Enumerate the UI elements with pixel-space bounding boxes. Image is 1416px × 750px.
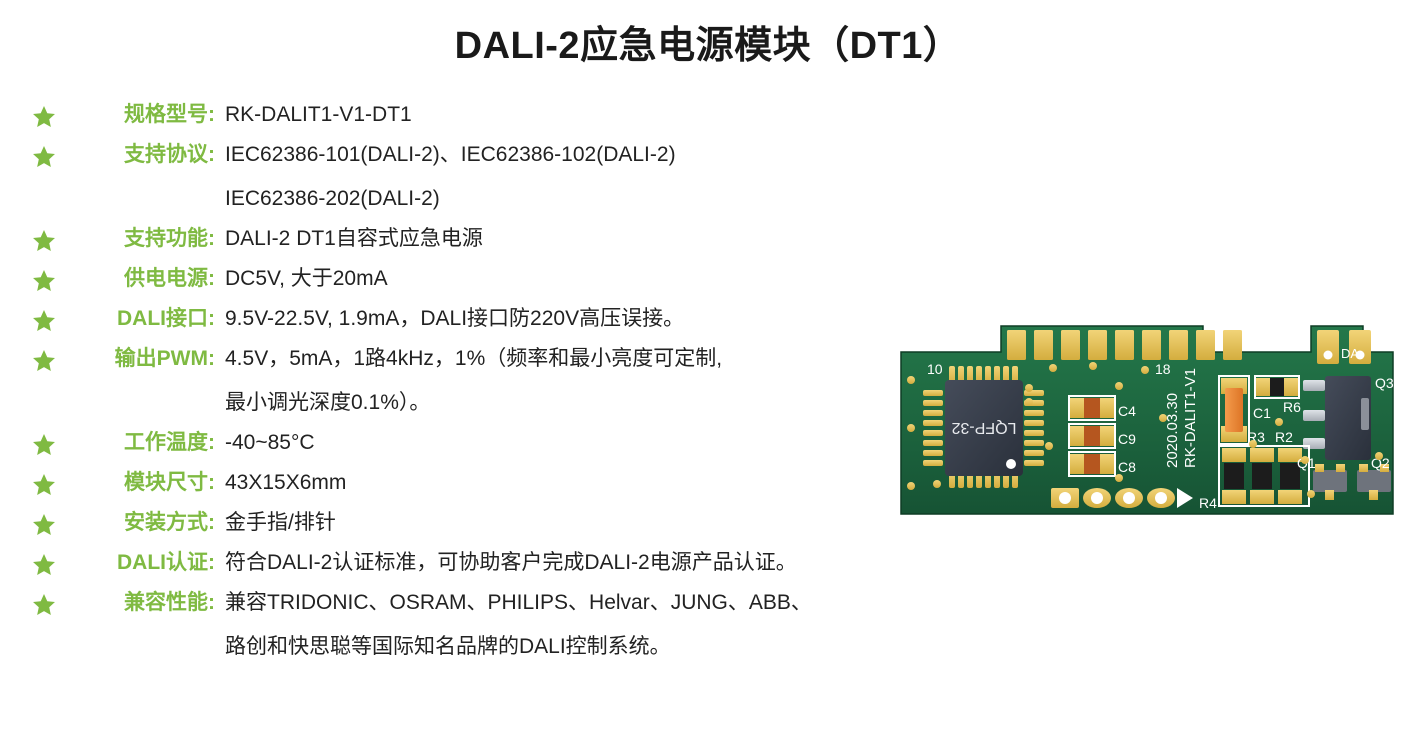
spec-value: RK-DALIT1-V1-DT1 — [225, 100, 412, 130]
spec-row: 安装方式: 金手指/排针 — [0, 508, 900, 538]
silk-label-r2: R2 — [1275, 429, 1293, 445]
silk-label-r4: R4 — [1199, 495, 1217, 511]
spec-value: 金手指/排针 — [225, 508, 336, 538]
star-icon — [30, 140, 58, 167]
spec-value: 符合DALI-2认证标准，可协助客户完成DALI-2电源产品认证。 — [225, 548, 797, 578]
silk-label-da: DA — [1341, 346, 1359, 361]
spec-label: 模块尺寸: — [58, 468, 215, 498]
page-title: DALI-2应急电源模块（DT1） — [0, 14, 1416, 69]
spec-label: 支持协议: — [58, 140, 215, 170]
silk-label-c8: C8 — [1118, 459, 1136, 475]
spec-row: DALI接口: 9.5V-22.5V, 1.9mA，DALI接口防220V高压误… — [0, 304, 900, 334]
silk-label-board-date: 2020.03.30 — [1164, 393, 1181, 468]
spec-value-line2: 路创和快思聪等国际知名品牌的DALI控制系统。 — [225, 632, 812, 662]
spec-label: 工作温度: — [58, 428, 215, 458]
spec-row: 支持功能: DALI-2 DT1自容式应急电源 — [0, 224, 900, 254]
spec-label: DALI认证: — [58, 548, 215, 578]
star-icon — [30, 548, 58, 575]
star-icon — [30, 224, 58, 251]
star-icon — [30, 264, 58, 291]
spec-row: 模块尺寸: 43X15X6mm — [0, 468, 900, 498]
spec-label: DALI接口: — [58, 304, 215, 334]
spec-value: 兼容TRIDONIC、OSRAM、PHILIPS、Helvar、JUNG、ABB… — [225, 588, 812, 662]
spec-value-line2: IEC62386-202(DALI-2) — [225, 184, 676, 214]
star-icon — [30, 304, 58, 331]
star-icon — [30, 100, 58, 127]
pcb-svg: DA 10 18 — [893, 318, 1405, 528]
spec-label: 规格型号: — [58, 100, 215, 130]
silk-label-pin-end: 18 — [1155, 361, 1171, 377]
spec-value: 9.5V-22.5V, 1.9mA，DALI接口防220V高压误接。 — [225, 304, 684, 334]
spec-label: 安装方式: — [58, 508, 215, 538]
spec-value: DALI-2 DT1自容式应急电源 — [225, 224, 483, 254]
spec-value: -40~85°C — [225, 428, 315, 458]
capacitor-array: C4 C9 C8 — [1069, 396, 1136, 476]
silk-label-q3: Q3 — [1375, 375, 1394, 391]
spec-value: DC5V, 大于20mA — [225, 264, 388, 294]
silk-label-c4: C4 — [1118, 403, 1136, 419]
spec-label: 输出PWM: — [58, 344, 215, 374]
silk-label-r6: R6 — [1283, 399, 1301, 415]
silk-label-chip: LQFP-32 — [951, 419, 1016, 436]
spec-row: DALI认证: 符合DALI-2认证标准，可协助客户完成DALI-2电源产品认证… — [0, 548, 900, 578]
spec-row: 规格型号: RK-DALIT1-V1-DT1 — [0, 100, 900, 130]
spec-value: 4.5V，5mA，1路4kHz，1%（频率和最小亮度可定制, 最小调光深度0.1… — [225, 344, 722, 418]
star-icon — [30, 508, 58, 535]
spec-label: 支持功能: — [58, 224, 215, 254]
spec-row: 兼容性能: 兼容TRIDONIC、OSRAM、PHILIPS、Helvar、JU… — [0, 588, 900, 662]
star-icon — [30, 344, 58, 371]
spec-row: 输出PWM: 4.5V，5mA，1路4kHz，1%（频率和最小亮度可定制, 最小… — [0, 344, 900, 418]
product-spec-page: DALI-2应急电源模块（DT1） 规格型号: RK-DALIT1-V1-DT1… — [0, 0, 1416, 750]
spec-value-line2: 最小调光深度0.1%）。 — [225, 388, 722, 418]
spec-label: 供电电源: — [58, 264, 215, 294]
star-icon — [30, 468, 58, 495]
spec-value: 43X15X6mm — [225, 468, 346, 498]
spec-row: 供电电源: DC5V, 大于20mA — [0, 264, 900, 294]
star-icon — [30, 588, 58, 615]
silk-label-c1: C1 — [1253, 405, 1271, 421]
spec-list: 规格型号: RK-DALIT1-V1-DT1 支持协议: IEC62386-10… — [0, 100, 900, 672]
silk-label-board-name: RK-DALIT1-V1 — [1182, 368, 1199, 468]
silk-label-c9: C9 — [1118, 431, 1136, 447]
spec-row: 支持协议: IEC62386-101(DALI-2)、IEC62386-102(… — [0, 140, 900, 214]
spec-row: 工作温度: -40~85°C — [0, 428, 900, 458]
spec-label: 兼容性能: — [58, 588, 215, 618]
spec-value: IEC62386-101(DALI-2)、IEC62386-102(DALI-2… — [225, 140, 676, 214]
pcb-board-image: DA 10 18 — [893, 318, 1405, 528]
gold-finger-contacts — [1007, 330, 1242, 360]
star-icon — [30, 428, 58, 455]
silk-label-pin-start: 10 — [927, 361, 943, 377]
